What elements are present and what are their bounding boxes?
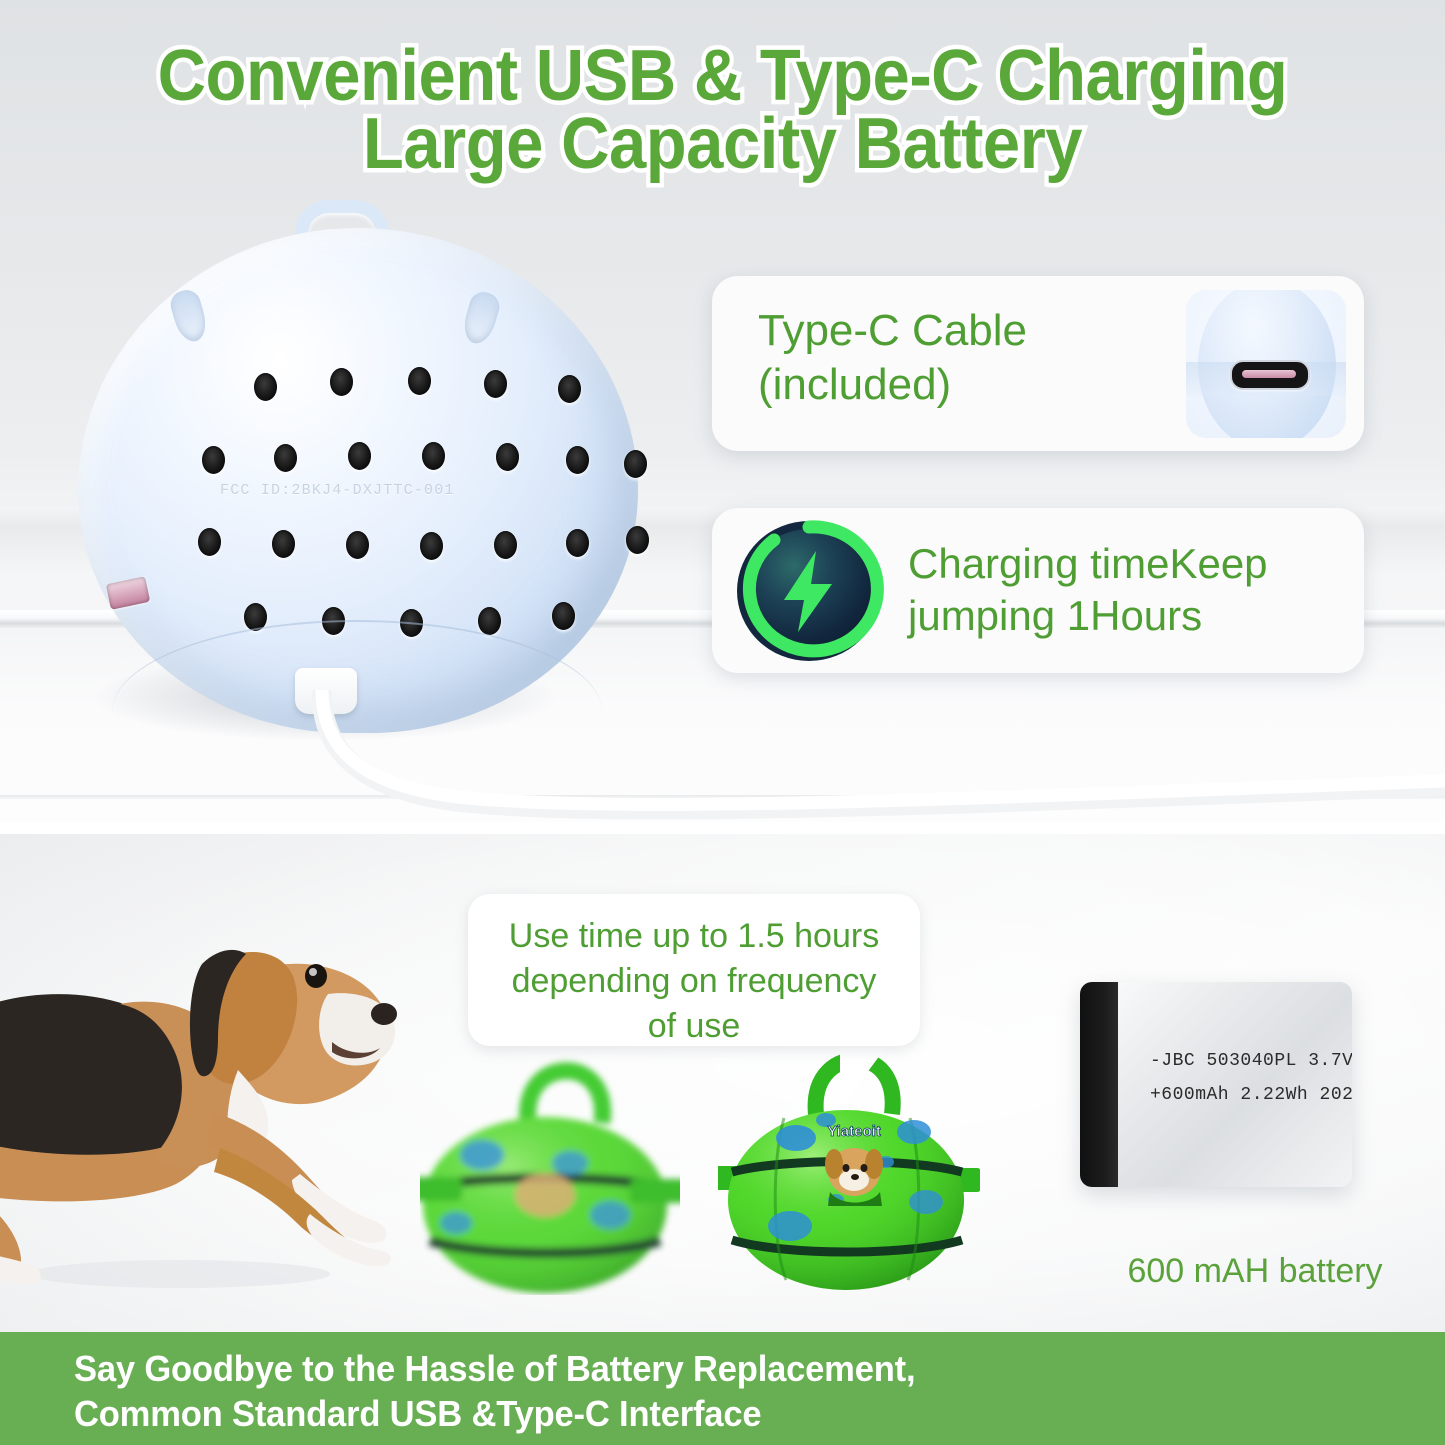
fcc-id-label: FCC ID:2BKJ4-DXJTTC-001 — [220, 482, 455, 499]
card-type-c-text: Type-C Cable (included) — [758, 304, 1027, 412]
bubble-line1: Use time up to 1.5 hours — [468, 914, 920, 959]
footer-line2: Common Standard USB &Type-C Interface — [74, 1391, 1322, 1436]
battery-image: -JBC 503040PL 3.7V +600mAh 2.22Wh 202311… — [1080, 982, 1352, 1187]
footer-line1: Say Goodbye to the Hassle of Battery Rep… — [74, 1346, 1322, 1391]
footer-text: Say Goodbye to the Hassle of Battery Rep… — [74, 1346, 1322, 1436]
beagle-dog-image — [0, 854, 440, 1294]
bubble-line2: depending on frequency — [468, 959, 920, 1004]
title-line-1: Convenient USB & Type-C Charging — [51, 42, 1395, 110]
toy-brand-text: Yiateoit — [827, 1123, 881, 1140]
card-charging-line2: jumping 1Hours — [908, 590, 1268, 642]
toy-ball-blurred — [420, 1045, 680, 1295]
card-type-c-cable[interactable]: Type-C Cable (included) — [712, 276, 1364, 451]
card-type-c-line1: Type-C Cable — [758, 304, 1027, 358]
usb-c-port-icon — [1230, 360, 1310, 390]
bubble-tail — [840, 1039, 892, 1109]
usage-time-bubble: Use time up to 1.5 hours depending on fr… — [468, 894, 920, 1046]
card-charging-line1: Charging timeKeep — [908, 538, 1268, 590]
card-type-c-line2: (included) — [758, 358, 1027, 412]
card-charging-time[interactable]: Charging timeKeep jumping 1Hours — [712, 508, 1364, 673]
usb-c-pin — [1242, 370, 1296, 378]
battery-label: -JBC 503040PL 3.7V +600mAh 2.22Wh 202311… — [1150, 1044, 1352, 1112]
battery-caption: 600 mAH battery — [1060, 1252, 1445, 1291]
battery-label-line2: +600mAh 2.22Wh 20231113 — [1150, 1078, 1352, 1112]
card-charging-text: Charging timeKeep jumping 1Hours — [908, 538, 1268, 642]
bubble-text: Use time up to 1.5 hours depending on fr… — [468, 914, 920, 1049]
charging-cable — [300, 690, 1445, 820]
top-section: Convenient USB & Type-C Charging Large C… — [0, 0, 1445, 822]
title-line-2: Large Capacity Battery — [51, 110, 1395, 178]
battery-label-line1: -JBC 503040PL 3.7V — [1150, 1044, 1352, 1078]
bubble-line3: of use — [468, 1004, 920, 1049]
section-divider — [0, 822, 1445, 834]
battery-terminal-tab — [1080, 982, 1118, 1187]
usb-c-port-photo — [1186, 290, 1346, 438]
footer-banner: Say Goodbye to the Hassle of Battery Rep… — [0, 1332, 1445, 1445]
charging-bolt-icon — [734, 518, 884, 664]
infographic-page: Convenient USB & Type-C Charging Large C… — [0, 0, 1445, 1445]
page-title: Convenient USB & Type-C Charging Large C… — [0, 42, 1445, 178]
